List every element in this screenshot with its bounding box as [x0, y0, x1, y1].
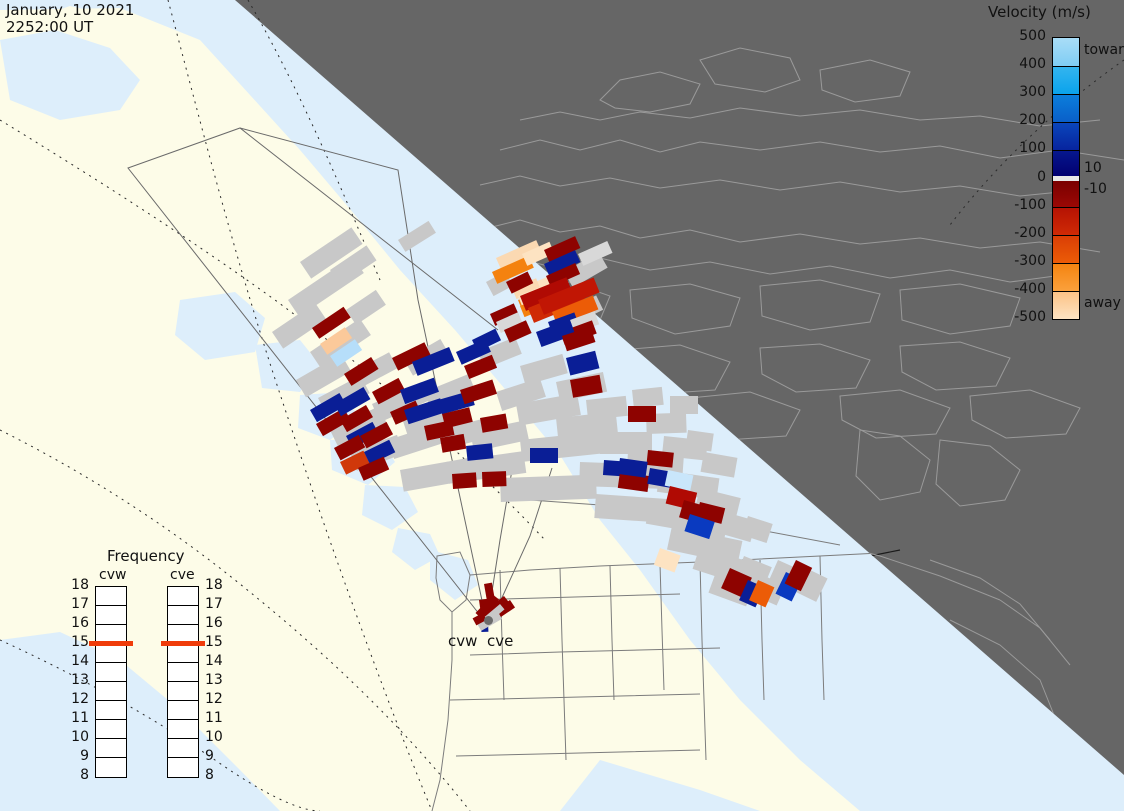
frequency-scale-label: 11 — [205, 710, 227, 726]
colorbar-segment — [1053, 291, 1079, 319]
colorbar-tick-label: 0 — [986, 169, 1046, 185]
frequency-scale-label: 16 — [67, 615, 89, 631]
colorbar-inner-positive-label: 10 — [1084, 160, 1102, 176]
frequency-column-label-cvw: cvw — [99, 567, 126, 583]
frequency-scale-label: 17 — [205, 596, 227, 612]
colorbar-divider — [1053, 263, 1079, 264]
colorbar-tick-label: 300 — [986, 84, 1046, 100]
radar-site-dot-cvw — [484, 616, 493, 625]
colorbar-segment — [1053, 122, 1079, 150]
frequency-scale-label: 14 — [67, 653, 89, 669]
frequency-scale-label: 15 — [67, 634, 89, 650]
colorbar-divider — [1053, 66, 1079, 67]
frequency-cell — [168, 587, 198, 606]
colorbar-away-label: away — [1084, 295, 1121, 311]
colorbar-tick-label: -300 — [986, 253, 1046, 269]
velocity-colorbar-panel: Velocity (m/s) 5004003002001000-100-200-… — [980, 0, 1124, 340]
frequency-column-label-cve: cve — [170, 567, 195, 583]
frequency-cell — [96, 682, 126, 701]
colorbar-divider — [1053, 235, 1079, 236]
radar-map-figure: January, 10 2021 2252:00 UT Velocity (m/… — [0, 0, 1124, 811]
frequency-scale-label: 12 — [205, 691, 227, 707]
frequency-cell — [96, 663, 126, 682]
frequency-scale-label: 9 — [205, 748, 227, 764]
frequency-scale-label: 18 — [67, 577, 89, 593]
frequency-scale-label: 8 — [67, 767, 89, 783]
colorbar-inner-negative-label: -10 — [1084, 181, 1107, 197]
frequency-legend-panel: Frequency cvw cve 1817161514131211109818… — [85, 545, 235, 785]
frequency-scale-label: 11 — [67, 710, 89, 726]
colorbar-divider — [1053, 150, 1079, 151]
frequency-cell — [168, 720, 198, 739]
colorbar-tick-label: -200 — [986, 225, 1046, 241]
frequency-cell — [168, 663, 198, 682]
frequency-cell — [96, 739, 126, 758]
colorbar-tick-label: -400 — [986, 281, 1046, 297]
radar-site-label-cve: cve — [487, 632, 513, 650]
colorbar-tick-label: -500 — [986, 309, 1046, 325]
frequency-cell — [96, 701, 126, 720]
colorbar-divider — [1053, 207, 1079, 208]
frequency-scale-label: 18 — [205, 577, 227, 593]
colorbar-segment — [1053, 235, 1079, 263]
frequency-cell — [168, 682, 198, 701]
frequency-scale-label: 16 — [205, 615, 227, 631]
frequency-scale-label: 8 — [205, 767, 227, 783]
frequency-scale-label: 9 — [67, 748, 89, 764]
frequency-cell — [168, 606, 198, 625]
radar-site-label-cvw: cvw — [448, 632, 477, 650]
colorbar-title: Velocity (m/s) — [988, 3, 1124, 21]
colorbar-tick-label: 400 — [986, 56, 1046, 72]
frequency-bar-cve — [167, 586, 199, 778]
frequency-scale-label: 14 — [205, 653, 227, 669]
timestamp-label: January, 10 2021 2252:00 UT — [6, 2, 134, 36]
colorbar-divider — [1053, 291, 1079, 292]
frequency-marker-cvw — [89, 641, 133, 646]
frequency-cell — [96, 606, 126, 625]
colorbar-tick-label: 200 — [986, 112, 1046, 128]
frequency-scale-label: 17 — [67, 596, 89, 612]
colorbar-segment — [1053, 38, 1079, 66]
frequency-scale-label: 13 — [67, 672, 89, 688]
frequency-scale-label: 10 — [205, 729, 227, 745]
colorbar-tick-label: -100 — [986, 197, 1046, 213]
colorbar-segment — [1053, 66, 1079, 94]
frequency-cell — [96, 644, 126, 663]
frequency-cell — [96, 720, 126, 739]
colorbar-segment — [1053, 150, 1079, 175]
colorbar-segment — [1053, 207, 1079, 235]
colorbar-segment — [1053, 263, 1079, 291]
colorbar-divider — [1053, 94, 1079, 95]
frequency-cell — [168, 758, 198, 777]
frequency-bar-cvw — [95, 586, 127, 778]
colorbar-toward-label: toward — [1084, 42, 1124, 58]
frequency-cell — [168, 644, 198, 663]
frequency-cell — [96, 587, 126, 606]
colorbar-divider — [1053, 122, 1079, 123]
frequency-scale-label: 13 — [205, 672, 227, 688]
frequency-cell — [96, 758, 126, 777]
colorbar-tick-label: 100 — [986, 140, 1046, 156]
frequency-scale-label: 12 — [67, 691, 89, 707]
colorbar-segment — [1053, 181, 1079, 206]
frequency-scale-label: 15 — [205, 634, 227, 650]
colorbar-gradient — [1052, 37, 1080, 320]
frequency-legend-title: Frequency — [107, 547, 185, 565]
frequency-marker-cve — [161, 641, 205, 646]
frequency-cell — [168, 701, 198, 720]
frequency-scale-label: 10 — [67, 729, 89, 745]
colorbar-tick-label: 500 — [986, 28, 1046, 44]
frequency-cell — [168, 739, 198, 758]
colorbar-segment — [1053, 94, 1079, 122]
